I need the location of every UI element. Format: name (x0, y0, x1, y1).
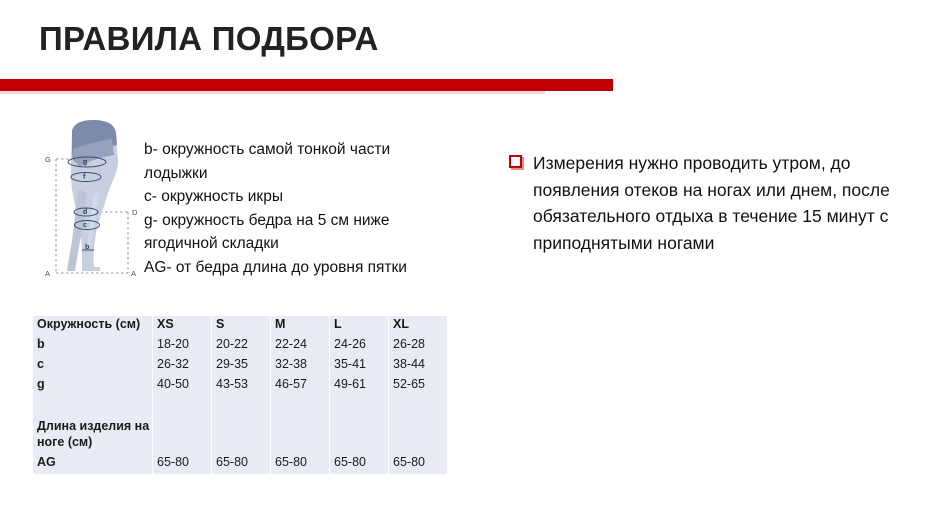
row-value: 35-41 (330, 356, 389, 376)
measurement-note-text: Измерения нужно проводить утром, до появ… (533, 150, 914, 256)
row-value: 49-61 (330, 376, 389, 396)
table-header-cell: XL (389, 316, 448, 336)
row-value: 40-50 (153, 376, 212, 396)
legend-line-b: b- окружность самой тонкой части лодыжки (144, 138, 444, 185)
page-title: ПРАВИЛА ПОДБОРА (39, 19, 379, 59)
table-row: b 18-20 20-22 22-24 24-26 26-28 (33, 336, 447, 356)
row-value: 65-80 (212, 454, 271, 474)
corner-label-a-right: A (131, 269, 136, 278)
legend-line-g: g- окружность бедра на 5 см ниже ягодичн… (144, 209, 444, 256)
row-label: Длина изделия на ноге (см) (33, 417, 153, 454)
row-label: c (33, 356, 153, 376)
row-value (212, 417, 271, 454)
row-value: 32-38 (271, 356, 330, 376)
row-label: AG (33, 454, 153, 474)
row-value: 65-80 (153, 454, 212, 474)
row-value: 65-80 (389, 454, 448, 474)
table-header-cell: M (271, 316, 330, 336)
row-value (330, 417, 389, 454)
corner-label-g: G (45, 155, 51, 164)
row-value: 43-53 (212, 376, 271, 396)
size-chart-table: Окружность (см) XS S M L XL b 18-20 20-2… (33, 316, 447, 474)
row-value (389, 396, 448, 417)
legend-line-ag: AG- от бедра длина до уровня пятки (144, 256, 444, 280)
marker-c: c (83, 222, 87, 229)
row-value (330, 396, 389, 417)
row-value: 65-80 (330, 454, 389, 474)
measurement-legend: b- окружность самой тонкой части лодыжки… (144, 138, 444, 279)
table-header-cell: S (212, 316, 271, 336)
row-value (153, 417, 212, 454)
marker-g: g (83, 159, 87, 166)
table-row: g 40-50 43-53 46-57 49-61 52-65 (33, 376, 447, 396)
table-row: c 26-32 29-35 32-38 35-41 38-44 (33, 356, 447, 376)
corner-label-a-left: A (45, 269, 50, 278)
row-value: 18-20 (153, 336, 212, 356)
row-value: 26-32 (153, 356, 212, 376)
row-value: 65-80 (271, 454, 330, 474)
row-value: 46-57 (271, 376, 330, 396)
measurement-note: Измерения нужно проводить утром, до появ… (509, 150, 914, 256)
corner-label-d: D (132, 208, 138, 217)
table-header-row: Окружность (см) XS S M L XL (33, 316, 447, 336)
leg-measurement-diagram: g f d c b G D A A (38, 115, 150, 295)
table-header-cell: Окружность (см) (33, 316, 153, 336)
leg-silhouette (67, 120, 118, 271)
table-header-cell: XS (153, 316, 212, 336)
row-value: 29-35 (212, 356, 271, 376)
row-value (271, 396, 330, 417)
row-value: 52-65 (389, 376, 448, 396)
marker-b: b (85, 244, 89, 251)
table-row: Длина изделия на ноге (см) (33, 417, 447, 454)
table-header-cell: L (330, 316, 389, 336)
row-value: 20-22 (212, 336, 271, 356)
marker-d: d (83, 209, 87, 216)
row-value (389, 417, 448, 454)
row-label: g (33, 376, 153, 396)
square-bullet-icon (509, 155, 522, 168)
table-row: AG 65-80 65-80 65-80 65-80 65-80 (33, 454, 447, 474)
row-value: 22-24 (271, 336, 330, 356)
row-value: 38-44 (389, 356, 448, 376)
legend-line-c: c- окружность икры (144, 185, 444, 209)
title-accent-bar-shadow (0, 91, 545, 94)
row-value (153, 396, 212, 417)
row-value (271, 417, 330, 454)
row-value: 26-28 (389, 336, 448, 356)
table-row-spacer (33, 396, 447, 417)
row-value: 24-26 (330, 336, 389, 356)
row-label: b (33, 336, 153, 356)
title-accent-bar (0, 79, 613, 91)
row-value (212, 396, 271, 417)
row-label (33, 396, 153, 417)
